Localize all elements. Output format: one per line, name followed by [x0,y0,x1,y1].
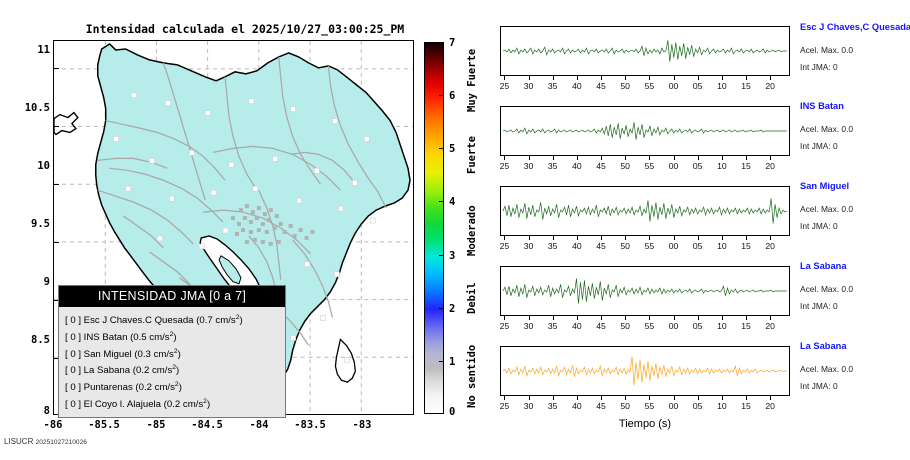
legend-unit: cm/s [154,349,174,360]
seismogram-xtick-mark [601,236,602,240]
seismogram-station-name-2: INS Batan [800,101,844,111]
seismogram-xtick-mark [674,76,675,80]
seismogram-xtick-mark [674,316,675,320]
map-xtick--83-5: -83.5 [287,419,333,431]
legend-exp: 2 [174,348,178,355]
seismogram-xtick-mark [770,236,771,240]
seismogram-xtick-mark [504,76,505,80]
seismogram-xtick-label-3-45: 45 [590,241,612,251]
seismogram-xtick-label-4-05: 05 [687,321,709,331]
seismogram-xtick-mark [577,76,578,80]
seismogram-accel-5: Acel. Max. 0.0 [800,364,853,374]
legend-row: [ 0 ] El Coyo l. Alajuela (0.2 cm/s2) [65,395,285,412]
seismogram-panel-1[interactable] [500,26,790,76]
seismogram-xtick-mark [529,236,530,240]
map-ytick-mark [53,68,59,69]
seismogram-xtick-mark [504,156,505,160]
colorbar-label-no-sentido: No sentido [466,320,478,408]
legend-row: [ 0 ] La Sabana (0.2 cm/s2) [65,361,285,378]
map-ytick-8-5: 8.5 [6,334,50,346]
map-title: Intensidad calculada el 2025/10/27_03:00… [65,22,425,36]
seismogram-xtick-label-2-40: 40 [566,161,588,171]
seismogram-xtick-label-5-20: 20 [759,401,781,411]
map-ytick-mark [53,126,59,127]
seismogram-xtick-mark [770,76,771,80]
colorbar-value-4: 4 [449,196,455,208]
seismogram-xtick-mark [529,316,530,320]
seismogram-xtick-label-5-55: 55 [638,401,660,411]
colorbar-value-0: 0 [449,406,455,418]
seismogram-intensity-4: Int JMA: 0 [800,301,838,311]
seismogram-xtick-mark [577,236,578,240]
seismogram-xtick-label-5-25: 25 [493,401,515,411]
colorbar-value-5: 5 [449,143,455,155]
seismogram-xtick-mark [674,396,675,400]
seismogram-xtick-mark [770,396,771,400]
legend-unit: cm/s [149,332,169,343]
legend-intensity: [ 0 ] [65,366,81,377]
seismogram-xtick-mark [698,396,699,400]
legend-row: [ 0 ] INS Batan (0.5 cm/s2) [65,328,285,345]
seismogram-xtick-mark [649,156,650,160]
seismogram-xtick-mark [553,396,554,400]
seismogram-xtick-label-5-45: 45 [590,401,612,411]
colorbar-label-moderado: Moderado [466,180,478,256]
watermark-org: LISUCR [4,437,33,446]
seismogram-xtick-mark [746,156,747,160]
seismogram-xtick-label-3-50: 50 [614,241,636,251]
map-xtick--85: -85 [133,419,179,431]
legend-intensity: [ 0 ] [65,332,81,343]
map-ytick-mark [53,184,59,185]
colorbar-tick [439,201,444,202]
watermark: LISUCR 20251027210026 [4,437,87,446]
colorbar-value-3: 3 [449,250,455,262]
seismogram-xtick-label-4-10: 10 [711,321,733,331]
seismogram-xtick-label-3-05: 05 [687,241,709,251]
seismogram-xtick-label-5-00: 00 [663,401,685,411]
legend-intensity: [ 0 ] [65,315,81,326]
seismogram-xtick-mark [601,316,602,320]
map-ytick-10-5: 10.5 [6,102,50,114]
seismogram-xtick-label-4-30: 30 [518,321,540,331]
seismogram-xtick-mark [529,396,530,400]
seismogram-xtick-mark [746,236,747,240]
seismogram-xtick-label-3-35: 35 [542,241,564,251]
seismogram-xtick-label-2-10: 10 [711,161,733,171]
seismogram-xtick-label-1-30: 30 [518,81,540,91]
seismogram-station-name-1: Esc J Chaves,C Quesada [800,22,910,32]
seismogram-xtick-label-2-25: 25 [493,161,515,171]
seismogram-xtick-label-1-35: 35 [542,81,564,91]
seismogram-xtick-label-1-40: 40 [566,81,588,91]
neighbor-coastline [54,113,78,135]
seismogram-xtick-label-4-40: 40 [566,321,588,331]
waveform-trace-4 [501,267,789,315]
seismogram-xtick-mark [625,316,626,320]
map-ytick-8: 8 [6,405,50,417]
seismogram-xtick-mark [553,316,554,320]
seismogram-xtick-mark [625,156,626,160]
colorbar-tick [439,255,444,256]
seismogram-xtick-label-4-50: 50 [614,321,636,331]
waveform-trace-5 [501,347,789,395]
legend-accel: 0.2 [139,382,152,393]
seismogram-xtick-mark [577,396,578,400]
colorbar-label-debil: Debil [466,262,478,314]
map-xtick--84-5: -84.5 [184,419,230,431]
map-xtick--83: -83 [339,419,385,431]
seismogram-xtick-label-1-20: 20 [759,81,781,91]
map-ytick-9-5: 9.5 [6,218,50,230]
seismogram-xtick-mark [529,76,530,80]
map-ytick-10: 10 [6,160,50,172]
seismogram-xtick-mark [722,236,723,240]
seismogram-xtick-label-5-40: 40 [566,401,588,411]
seismogram-panel-4[interactable] [500,266,790,316]
map-ytick-mark [53,242,59,243]
seismogram-xtick-mark [746,396,747,400]
seismogram-xtick-mark [601,396,602,400]
seismogram-intensity-3: Int JMA: 0 [800,221,838,231]
seismogram-xtick-mark [770,316,771,320]
seismogram-xaxis-label: Tiempo (s) [565,418,725,430]
seismogram-xtick-label-3-25: 25 [493,241,515,251]
seismogram-xtick-mark [553,156,554,160]
colorbar-value-7: 7 [449,37,455,49]
seismogram-xtick-label-4-00: 00 [663,321,685,331]
seismogram-xtick-mark [698,316,699,320]
seismogram-xtick-label-5-10: 10 [711,401,733,411]
seismogram-xtick-label-3-00: 00 [663,241,685,251]
seismogram-xtick-mark [722,76,723,80]
legend-unit: cm/s [152,366,172,377]
seismogram-xtick-label-2-35: 35 [542,161,564,171]
legend-unit: cm/s [215,315,235,326]
seismogram-xtick-label-4-35: 35 [542,321,564,331]
seismogram-xtick-mark [722,316,723,320]
legend-exp: 2 [172,364,176,371]
colorbar-tick [439,42,444,43]
seismogram-xtick-label-3-40: 40 [566,241,588,251]
seismogram-accel-3: Acel. Max. 0.0 [800,204,853,214]
legend-station: INS Batan [84,332,128,343]
seismogram-xtick-label-5-30: 30 [518,401,540,411]
seismogram-xtick-label-1-50: 50 [614,81,636,91]
colorbar-label-muy-fuerte: Muy Fuerte [466,36,478,112]
seismogram-xtick-label-2-05: 05 [687,161,709,171]
legend-accel: 0.3 [138,349,151,360]
legend-exp: 2 [236,314,240,321]
intensity-colorbar [424,42,444,414]
legend-station: San Miguel [84,349,132,360]
colorbar-value-6: 6 [449,90,455,102]
seismogram-xtick-mark [698,76,699,80]
seismogram-xtick-mark [698,156,699,160]
colorbar-value-1: 1 [449,356,455,368]
colorbar-label-fuerte: Fuerte [466,116,478,174]
seismogram-intensity-5: Int JMA: 0 [800,381,838,391]
seismogram-xtick-label-1-45: 45 [590,81,612,91]
legend-exp: 2 [175,381,179,388]
legend-station: El Coyo l. Alajuela [84,399,161,410]
legend-accel: 0.5 [133,332,146,343]
legend-header: INTENSIDAD JMA [0 a 7] [59,286,285,307]
seismogram-xtick-mark [625,76,626,80]
seismogram-xtick-label-3-15: 15 [735,241,757,251]
seismogram-xtick-mark [722,396,723,400]
seismogram-xtick-label-1-00: 00 [663,81,685,91]
seismogram-xtick-mark [746,316,747,320]
legend-accel: 0.2 [136,366,149,377]
colorbar-tick [439,308,444,309]
intensity-legend: INTENSIDAD JMA [0 a 7] [ 0 ] Esc J Chave… [58,285,286,418]
seismogram-xtick-label-2-30: 30 [518,161,540,171]
seismogram-panel-3[interactable] [500,186,790,236]
seismogram-xtick-label-5-15: 15 [735,401,757,411]
legend-intensity: [ 0 ] [65,399,81,410]
seismogram-xtick-mark [698,236,699,240]
seismogram-xtick-mark [577,316,578,320]
seismogram-accel-2: Acel. Max. 0.0 [800,124,853,134]
seismogram-xtick-label-1-55: 55 [638,81,660,91]
seismogram-xtick-mark [553,236,554,240]
legend-accel: 0.2 [167,399,180,410]
seismogram-xtick-label-3-10: 10 [711,241,733,251]
map-ytick-11: 11 [6,44,50,56]
seismogram-xtick-mark [674,236,675,240]
legend-intensity: [ 0 ] [65,349,81,360]
seismogram-xtick-mark [674,156,675,160]
seismogram-intensity-1: Int JMA: 0 [800,62,838,72]
legend-station: Puntarenas [84,382,133,393]
seismogram-xtick-mark [601,156,602,160]
seismogram-xtick-mark [649,76,650,80]
seismogram-xtick-label-2-55: 55 [638,161,660,171]
seismogram-xtick-label-2-45: 45 [590,161,612,171]
seismogram-xtick-label-3-30: 30 [518,241,540,251]
legend-accel: 0.7 [199,315,212,326]
seismogram-xtick-mark [649,316,650,320]
seismogram-xtick-mark [625,396,626,400]
seismogram-xtick-mark [649,236,650,240]
seismogram-xtick-label-5-50: 50 [614,401,636,411]
seismogram-xtick-label-4-55: 55 [638,321,660,331]
seismogram-xtick-label-3-55: 55 [638,241,660,251]
map-xtick--85-5: -85.5 [81,419,127,431]
seismogram-xtick-label-2-00: 00 [663,161,685,171]
seismogram-xtick-label-4-45: 45 [590,321,612,331]
seismogram-xtick-label-2-20: 20 [759,161,781,171]
seismogram-xtick-mark [601,76,602,80]
colorbar-tick [439,361,444,362]
colorbar-tick [439,95,444,96]
seismogram-station-name-5: La Sabana [800,341,847,351]
seismogram-xtick-mark [746,76,747,80]
legend-row: [ 0 ] Puntarenas (0.2 cm/s2) [65,378,285,395]
seismogram-xtick-label-3-20: 20 [759,241,781,251]
legend-exp: 2 [170,331,174,338]
seismogram-xtick-label-4-15: 15 [735,321,757,331]
seismogram-accel-1: Acel. Max. 0.0 [800,45,853,55]
seismogram-xtick-mark [577,156,578,160]
seismogram-xtick-mark [649,396,650,400]
seismogram-xtick-label-2-15: 15 [735,161,757,171]
legend-unit: cm/s [183,399,203,410]
seismogram-xtick-label-1-05: 05 [687,81,709,91]
seismogram-xtick-mark [504,316,505,320]
seismogram-xtick-label-2-50: 50 [614,161,636,171]
seismogram-station-name-3: San Miguel [800,181,849,191]
waveform-trace-2 [501,107,789,155]
seismogram-xtick-label-1-25: 25 [493,81,515,91]
seismogram-xtick-label-5-35: 35 [542,401,564,411]
seismogram-xtick-mark [504,236,505,240]
colorbar-value-2: 2 [449,303,455,315]
legend-row: [ 0 ] San Miguel (0.3 cm/s2) [65,345,285,362]
legend-exp: 2 [203,398,207,405]
seismogram-intensity-2: Int JMA: 0 [800,141,838,151]
seismogram-xtick-mark [504,396,505,400]
legend-station-list: [ 0 ] Esc J Chaves.C Quesada (0.7 cm/s2)… [59,307,285,417]
seismogram-panel-5[interactable] [500,346,790,396]
map-xtick--84: -84 [236,419,282,431]
waveform-trace-1 [501,27,789,75]
seismogram-xtick-label-5-05: 05 [687,401,709,411]
legend-station: La Sabana [84,366,130,377]
legend-station: Esc J Chaves.C Quesada [84,315,194,326]
waveform-trace-3 [501,187,789,235]
seismogram-station-name-4: La Sabana [800,261,847,271]
seismogram-xtick-label-4-25: 25 [493,321,515,331]
seismogram-xtick-mark [529,156,530,160]
seismogram-xtick-label-1-15: 15 [735,81,757,91]
seismogram-accel-4: Acel. Max. 0.0 [800,284,853,294]
seismogram-xtick-mark [770,156,771,160]
seismogram-xtick-mark [625,236,626,240]
watermark-timestamp: 20251027210026 [36,439,87,446]
seismogram-xtick-label-1-10: 10 [711,81,733,91]
seismogram-xtick-mark [722,156,723,160]
legend-unit: cm/s [155,382,175,393]
seismogram-panel-2[interactable] [500,106,790,156]
seismogram-xtick-label-4-20: 20 [759,321,781,331]
legend-row: [ 0 ] Esc J Chaves.C Quesada (0.7 cm/s2) [65,311,285,328]
legend-intensity: [ 0 ] [65,382,81,393]
seismogram-xtick-mark [553,76,554,80]
map-xtick--86: -86 [30,419,76,431]
colorbar-tick [439,148,444,149]
map-ytick-9: 9 [6,276,50,288]
